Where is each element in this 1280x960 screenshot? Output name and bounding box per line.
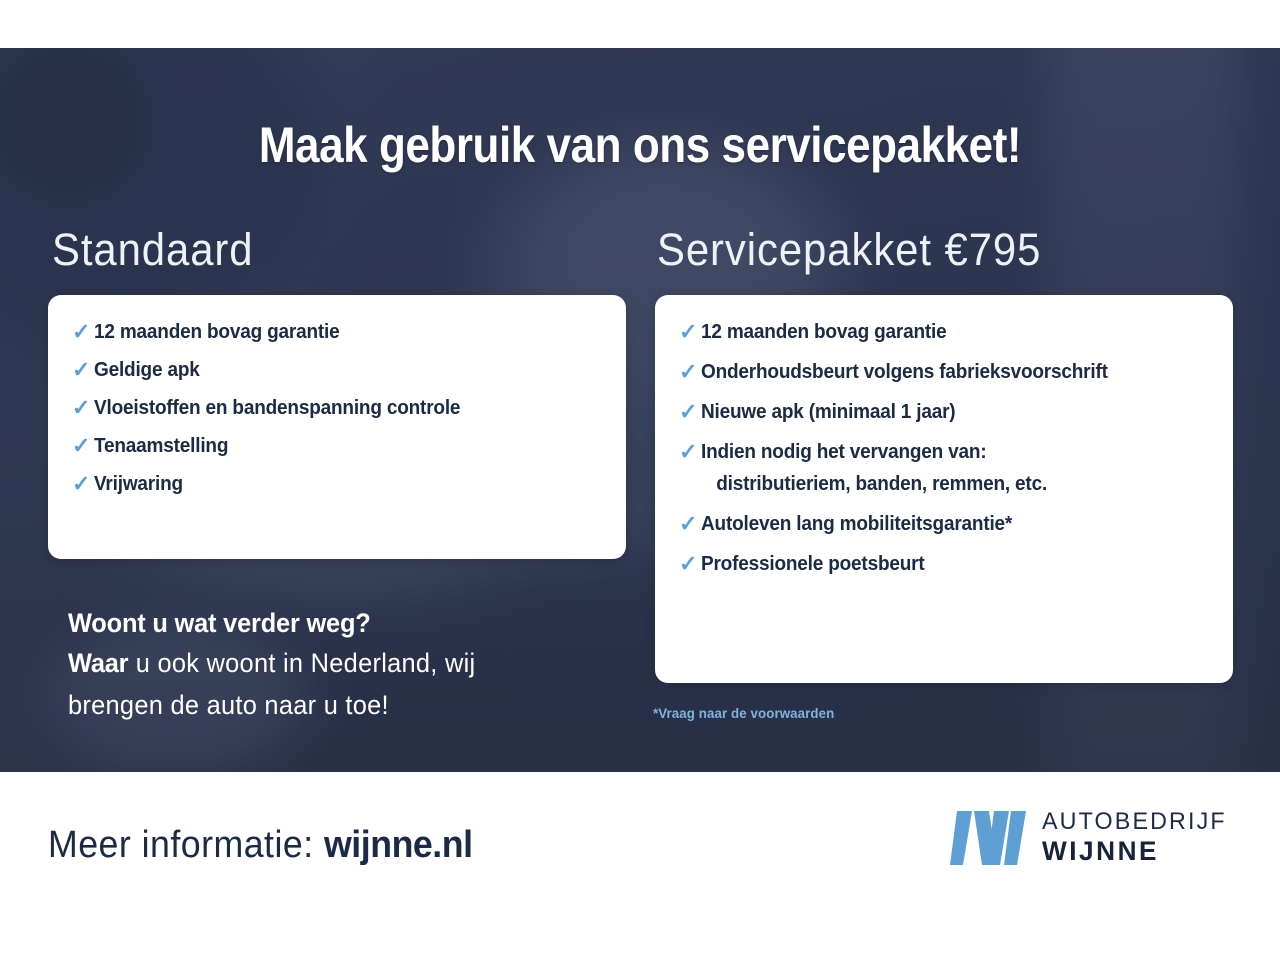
- more-info-label: Meer informatie:: [48, 824, 314, 866]
- more-info-line: Meer informatie: wijnne.nl: [48, 824, 473, 867]
- website-link[interactable]: wijnne.nl: [324, 824, 473, 866]
- list-item: ✓ 12 maanden bovag garantie: [72, 321, 602, 344]
- checkmark-icon: ✓: [679, 553, 701, 575]
- list-item: ✓ Onderhoudsbeurt volgens fabrieksvoorsc…: [679, 361, 1209, 384]
- list-item-label: Professionele poetsbeurt: [701, 553, 925, 576]
- column-heading-servicepakket: Servicepakket €795: [657, 224, 1041, 276]
- checkmark-icon: ✓: [72, 359, 94, 381]
- company-logo: AUTOBEDRIJF WIJNNE: [950, 810, 1232, 865]
- delivery-promo: Woont u wat verder weg? Waar u ook woont…: [68, 605, 608, 726]
- list-item: ✓ Autoleven lang mobiliteitsgarantie*: [679, 513, 1209, 536]
- hero-section: Maak gebruik van ons servicepakket! Stan…: [0, 48, 1280, 772]
- promo-body: Waar u ook woont in Nederland, wij breng…: [68, 642, 576, 726]
- list-item-label: Tenaamstelling: [94, 435, 228, 458]
- list-item-label: 12 maanden bovag garantie: [701, 321, 947, 344]
- list-item-label: Vrijwaring: [94, 473, 183, 496]
- list-item: ✓ Vrijwaring: [72, 473, 602, 496]
- wijnne-w-mark: [950, 811, 1026, 865]
- page-title: Maak gebruik van ons servicepakket!: [77, 116, 1203, 174]
- list-item-label: Onderhoudsbeurt volgens fabrieksvoorschr…: [701, 361, 1108, 384]
- conditions-footnote: *Vraag naar de voorwaarden: [653, 705, 834, 721]
- logo-wordmark: AUTOBEDRIJF WIJNNE: [1042, 810, 1232, 865]
- servicepakket-card: ✓ 12 maanden bovag garantie ✓ Onderhouds…: [655, 295, 1233, 683]
- checkmark-icon: ✓: [72, 321, 94, 343]
- list-item: ✓ 12 maanden bovag garantie: [679, 321, 1209, 344]
- servicepakket-feature-list: ✓ 12 maanden bovag garantie ✓ Onderhouds…: [655, 295, 1233, 576]
- list-item-label: 12 maanden bovag garantie: [94, 321, 340, 344]
- promo-body-rest: u ook woont in Nederland, wij brengen de…: [68, 648, 475, 720]
- column-heading-standard: Standaard: [52, 224, 254, 276]
- list-item: ✓ Nieuwe apk (minimaal 1 jaar): [679, 401, 1209, 424]
- checkmark-icon: ✓: [72, 397, 94, 419]
- list-item-label: Indien nodig het vervangen van: distribu…: [701, 441, 1047, 496]
- list-item: ✓ Tenaamstelling: [72, 435, 602, 458]
- checkmark-icon: ✓: [679, 513, 701, 535]
- list-item-label-line1: Indien nodig het vervangen van:: [701, 441, 986, 463]
- list-item-label: Vloeistoffen en bandenspanning controle: [94, 397, 460, 420]
- standard-package-card: ✓ 12 maanden bovag garantie ✓ Geldige ap…: [48, 295, 626, 559]
- list-item: ✓ Professionele poetsbeurt: [679, 553, 1209, 576]
- list-item-label: Autoleven lang mobiliteitsgarantie*: [701, 513, 1012, 536]
- list-item-label-line2: distributieriem, banden, remmen, etc.: [701, 473, 1047, 496]
- checkmark-icon: ✓: [679, 321, 701, 343]
- checkmark-icon: ✓: [72, 473, 94, 495]
- checkmark-icon: ✓: [679, 361, 701, 383]
- list-item-label: Nieuwe apk (minimaal 1 jaar): [701, 401, 955, 424]
- service-package-banner: Maak gebruik van ons servicepakket! Stan…: [0, 0, 1280, 960]
- list-item: ✓ Vloeistoffen en bandenspanning control…: [72, 397, 602, 420]
- promo-title: Woont u wat verder weg?: [68, 605, 576, 642]
- checkmark-icon: ✓: [679, 401, 701, 423]
- checkmark-icon: ✓: [72, 435, 94, 457]
- list-item-label: Geldige apk: [94, 359, 200, 382]
- standard-feature-list: ✓ 12 maanden bovag garantie ✓ Geldige ap…: [48, 295, 626, 496]
- list-item: ✓ Indien nodig het vervangen van: distri…: [679, 441, 1209, 496]
- logo-line-autobedrijf: AUTOBEDRIJF: [1042, 810, 1227, 834]
- logo-line-wijnne: WIJNNE: [1042, 838, 1227, 865]
- checkmark-icon: ✓: [679, 441, 701, 463]
- list-item: ✓ Geldige apk: [72, 359, 602, 382]
- promo-body-emphasis: Waar: [68, 648, 128, 678]
- footer-bar: Meer informatie: wijnne.nl AUTOBEDRIJF W…: [0, 772, 1280, 960]
